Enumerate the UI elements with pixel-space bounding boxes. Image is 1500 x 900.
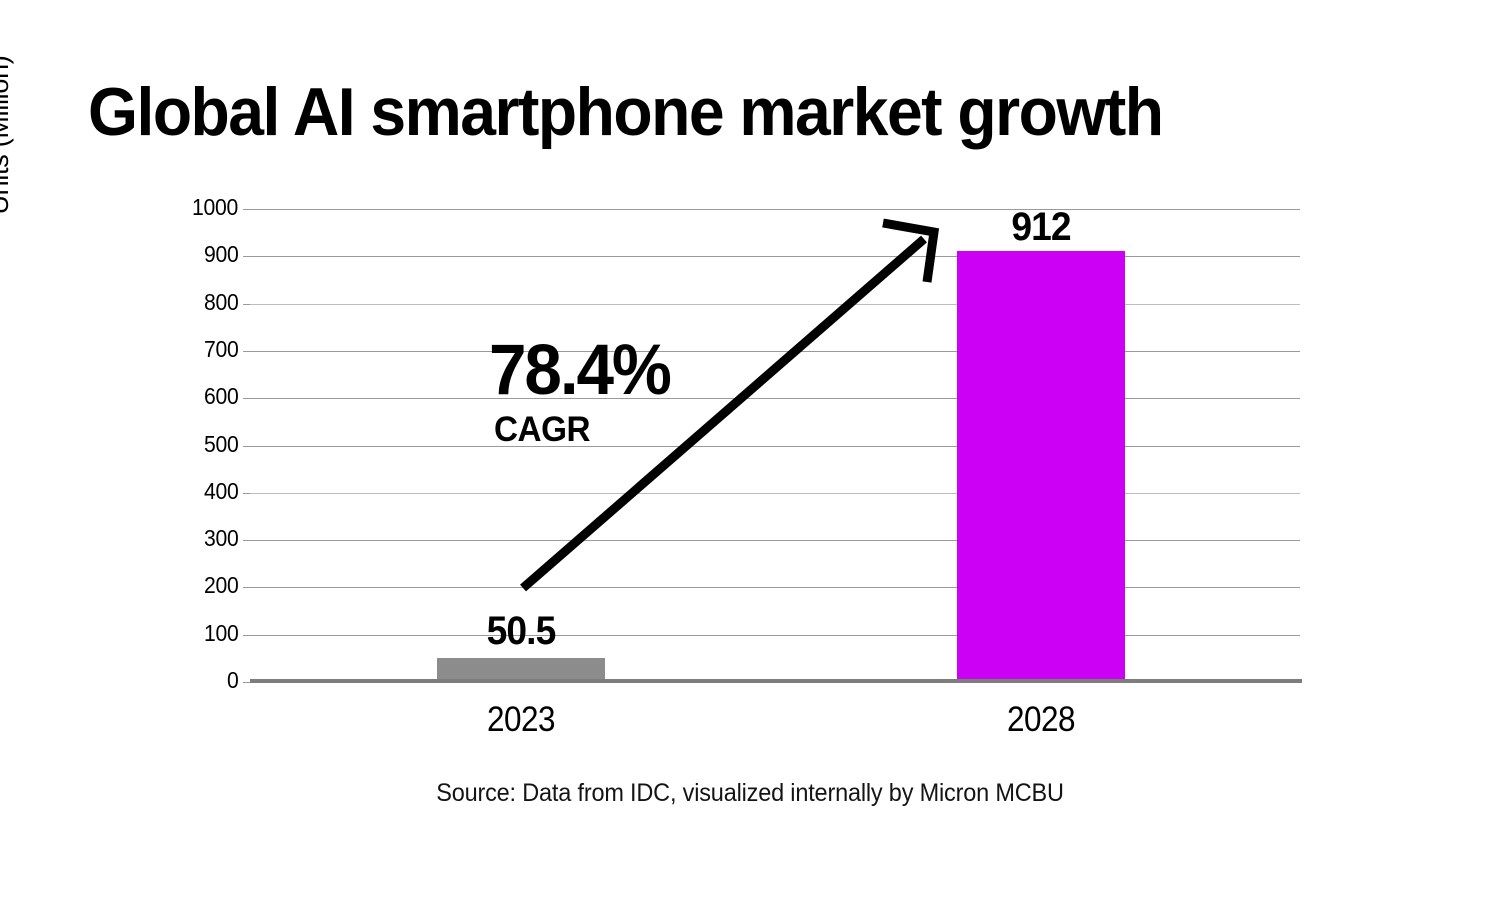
y-tick-label-600: 600	[204, 383, 238, 410]
y-tick-label-500: 500	[204, 431, 238, 458]
gridline-800	[250, 304, 1300, 305]
cagr-value-label: 78.4%	[489, 335, 670, 406]
page-title: Global AI smartphone market growth	[88, 78, 1162, 146]
gridline-400	[250, 493, 1300, 494]
y-tick-label-900: 900	[204, 241, 238, 268]
gridline-900	[250, 256, 1300, 257]
gridline-600	[250, 398, 1300, 399]
x-axis-label-2028: 2028	[924, 700, 1158, 740]
x-axis-line	[250, 679, 1302, 683]
gridline-100	[250, 635, 1300, 636]
cagr-text-label: CAGR	[494, 412, 590, 447]
y-tick-label-800: 800	[204, 289, 238, 316]
y-tick-label-100: 100	[204, 620, 238, 647]
gridline-300	[250, 540, 1300, 541]
gridline-700	[250, 351, 1300, 352]
chart-canvas: Global AI smartphone market growth Units…	[0, 0, 1500, 900]
y-tick-label-300: 300	[204, 525, 238, 552]
y-axis-title: Units (Million)	[0, 0, 15, 285]
y-tick-label-700: 700	[204, 336, 238, 363]
source-note: Source: Data from IDC, visualized intern…	[45, 779, 1455, 808]
gridline-1000	[250, 209, 1300, 210]
gridline-200	[250, 587, 1300, 588]
y-tick-label-0: 0	[227, 667, 239, 694]
y-tick-label-200: 200	[204, 572, 238, 599]
bar-2028[interactable]	[957, 251, 1125, 682]
gridline-500	[250, 446, 1300, 447]
y-tick-label-400: 400	[204, 478, 238, 505]
y-tick-label-1000: 1000	[192, 194, 238, 221]
bar-value-2028: 912	[948, 205, 1134, 250]
x-axis-label-2023: 2023	[404, 700, 638, 740]
bar-value-2023: 50.5	[428, 609, 614, 654]
plot-area	[250, 209, 1300, 682]
